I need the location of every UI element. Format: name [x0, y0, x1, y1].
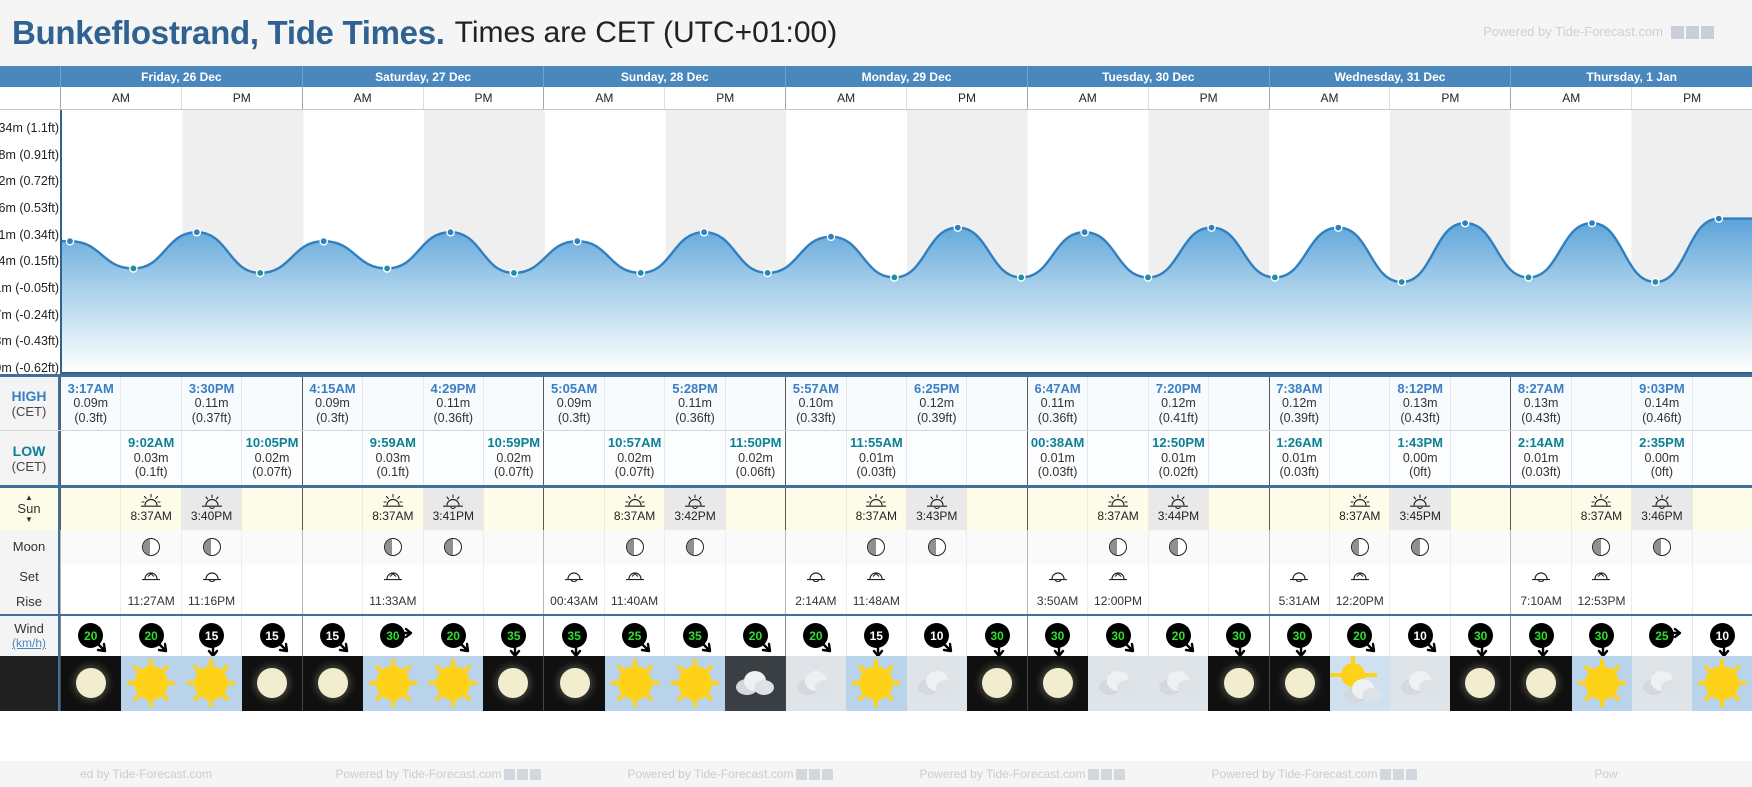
low-tide-height-m: 0.03m	[376, 451, 411, 466]
weather-cell-4-2[interactable]	[1148, 656, 1208, 711]
high-tide-height-m: 0.13m	[1403, 396, 1438, 411]
cloud-icon	[1399, 671, 1441, 695]
weather-cell-2-1[interactable]	[605, 656, 665, 711]
sun-cell-5-1[interactable]: 8:37AM	[1329, 488, 1389, 530]
sunset-icon	[1651, 494, 1673, 509]
ampm-cell-3-am: AM	[786, 87, 906, 109]
moon-cell-4-2[interactable]	[1148, 530, 1208, 564]
weather-cell-4-3[interactable]	[1208, 656, 1268, 711]
high-tide-cell-0-2[interactable]: 3:30PM0.11m(0.37ft)	[181, 377, 241, 430]
timezone-note: Times are CET (UTC+01:00)	[455, 16, 838, 50]
brand-block-icon	[1088, 769, 1099, 780]
weather-cell-1-3[interactable]	[483, 656, 543, 711]
sun-cell-2-2[interactable]: 3:42PM	[664, 488, 724, 530]
weather-day-4	[1027, 656, 1269, 711]
moon-rise-cell-0-1[interactable]: 11:27AM	[120, 589, 180, 614]
moon-rise-cell-1-2	[423, 589, 483, 614]
wind-cell-2-3[interactable]: 20	[725, 616, 785, 656]
sunrise-icon	[1349, 494, 1371, 509]
low-tide-time: 12:50PM	[1152, 435, 1205, 450]
moon-cell-2-3	[725, 530, 785, 564]
low-tide-cell-0-3[interactable]: 10:05PM0.02m(0.07ft)	[241, 431, 301, 484]
low-tide-day-2: 10:57AM0.02m(0.07ft)11:50PM0.02m(0.06ft)	[543, 431, 785, 484]
wind-unit-text[interactable]: (km/h)	[12, 636, 46, 650]
high-tide-height-ft: (0.36ft)	[675, 411, 715, 426]
wind-badge-holder: 20	[441, 623, 466, 648]
brand-block-icon	[809, 769, 820, 780]
sunrise-time: 8:37AM	[130, 509, 171, 523]
wind-cell-5-1[interactable]: 20	[1329, 616, 1389, 656]
moon-phase-icon	[142, 538, 160, 556]
wind-cell-1-0[interactable]: 15	[303, 616, 362, 656]
high-tide-cell-4-2[interactable]: 7:20PM0.12m(0.41ft)	[1148, 377, 1208, 430]
weather-cell-3-2[interactable]	[907, 656, 967, 711]
weather-cell-5-1[interactable]	[1330, 656, 1390, 711]
moon-time: 12:00PM	[1094, 594, 1142, 608]
moon-set-label-text: Set	[19, 569, 39, 584]
moon-cell-1-2[interactable]	[423, 530, 483, 564]
moon-set-day-2	[543, 564, 785, 589]
high-tide-cell-0-0[interactable]: 3:17AM0.09m(0.3ft)	[61, 377, 120, 430]
wind-cell-4-2[interactable]: 20	[1148, 616, 1208, 656]
high-tide-day-2: 5:05AM0.09m(0.3ft)5:28PM0.11m(0.36ft)	[543, 377, 785, 430]
moon-set-icon-cell-3-0	[786, 564, 845, 589]
sun-cell-1-1[interactable]: 8:37AM	[362, 488, 422, 530]
high-tide-day-6: 8:27AM0.13m(0.43ft)9:03PM0.14m(0.46ft)	[1510, 377, 1752, 430]
low-tide-height-m: 0.02m	[255, 451, 290, 466]
low-tide-day-4: 00:38AM0.01m(0.03ft)12:50PM0.01m(0.02ft)	[1027, 431, 1269, 484]
day-header-5[interactable]: Wednesday, 31 Dec	[1269, 66, 1511, 87]
wind-cell-0-1[interactable]: 20	[120, 616, 180, 656]
moon-rise-cell-6-0[interactable]: 7:10AM	[1511, 589, 1570, 614]
high-tide-time: 5:05AM	[551, 381, 597, 396]
moon-set-day-4	[1027, 564, 1269, 589]
high-tide-cell-2-0[interactable]: 5:05AM0.09m(0.3ft)	[544, 377, 603, 430]
high-tide-cell-1-0[interactable]: 4:15AM0.09m(0.3ft)	[303, 377, 362, 430]
wind-cell-5-3[interactable]: 30	[1450, 616, 1510, 656]
clear-night-icon	[1208, 656, 1268, 711]
moon-cell-1-1[interactable]	[362, 530, 422, 564]
low-tide-height-ft: (0.07ft)	[494, 465, 534, 480]
low-tide-cell-2-3[interactable]: 11:50PM0.02m(0.06ft)	[725, 431, 785, 484]
cloud-icon	[1641, 671, 1683, 695]
moon-rise-cell-6-3	[1692, 589, 1752, 614]
sun-cell-5-2[interactable]: 3:45PM	[1389, 488, 1449, 530]
high-tide-cell-0-1	[120, 377, 180, 430]
low-tide-unit-text: (CET)	[12, 459, 47, 474]
sun-cell-4-0	[1028, 488, 1087, 530]
wind-day-1: 15302035	[302, 616, 544, 656]
sun-cell-1-2[interactable]: 3:41PM	[423, 488, 483, 530]
sun-cell-6-1[interactable]: 8:37AM	[1571, 488, 1631, 530]
low-tide-cell-1-1[interactable]: 9:59AM0.03m(0.1ft)	[362, 431, 422, 484]
wind-cell-0-3[interactable]: 15	[241, 616, 301, 656]
wind-cell-3-0[interactable]: 20	[786, 616, 845, 656]
moon-day-1	[302, 530, 544, 564]
wind-direction-sw-icon	[1121, 639, 1137, 655]
powered-by-top-blocks	[1669, 24, 1714, 39]
moon-rise-cell-1-1[interactable]: 11:33AM	[362, 589, 422, 614]
sun-cell-3-2[interactable]: 3:43PM	[906, 488, 966, 530]
wind-cell-6-2[interactable]: 25	[1631, 616, 1691, 656]
sun-cell-4-1[interactable]: 8:37AM	[1087, 488, 1147, 530]
sunrise-icon	[865, 494, 887, 509]
weather-cell-4-1[interactable]	[1088, 656, 1148, 711]
high-tide-cell-2-2[interactable]: 5:28PM0.11m(0.36ft)	[664, 377, 724, 430]
weather-cell-1-1[interactable]	[363, 656, 423, 711]
low-tide-cell-6-2[interactable]: 2:35PM0.00m(0ft)	[1631, 431, 1691, 484]
high-tide-height-ft: (0.3ft)	[558, 411, 591, 426]
low-tide-cell-3-1[interactable]: 11:55AM0.01m(0.03ft)	[846, 431, 906, 484]
low-tide-cell-0-2	[181, 431, 241, 484]
low-tide-day-5: 1:26AM0.01m(0.03ft)1:43PM0.00m(0ft)	[1269, 431, 1511, 484]
sunset-time: 3:40PM	[191, 509, 232, 523]
ampm-cell-6-am: AM	[1511, 87, 1631, 109]
moon-phase-icon	[626, 538, 644, 556]
wind-label: Wind (km/h)	[0, 616, 60, 656]
wind-cell-0-0[interactable]: 20	[61, 616, 120, 656]
low-tide-cell-2-1[interactable]: 10:57AM0.02m(0.07ft)	[604, 431, 664, 484]
high-tide-height-ft: (0.39ft)	[1280, 411, 1320, 426]
high-tide-height-m: 0.12m	[919, 396, 954, 411]
wind-cell-0-2[interactable]: 15	[181, 616, 241, 656]
wind-day-2: 35253520	[543, 616, 785, 656]
sunny-icon	[181, 656, 241, 711]
high-tide-cell-6-2[interactable]: 9:03PM0.14m(0.46ft)	[1631, 377, 1691, 430]
low-tide-cell-6-0[interactable]: 2:14AM0.01m(0.03ft)	[1511, 431, 1570, 484]
sun-cell-4-2[interactable]: 3:44PM	[1148, 488, 1208, 530]
moon-rise-day-4: 3:50AM12:00PM	[1027, 589, 1269, 614]
weather-cell-2-2[interactable]	[665, 656, 725, 711]
weather-cell-0-0[interactable]	[61, 656, 121, 711]
moon-cell-0-1[interactable]	[120, 530, 180, 564]
sun-cell-0-1[interactable]: 8:37AM	[120, 488, 180, 530]
moon-rise-cell-0-2[interactable]: 11:16PM	[181, 589, 241, 614]
sun-cell-0-2[interactable]: 3:40PM	[181, 488, 241, 530]
moon-time: 11:40AM	[611, 594, 658, 608]
moon-rise-label-text: Rise	[16, 594, 42, 609]
wind-badge-holder: 20	[803, 623, 828, 648]
moon-shadow	[867, 538, 875, 556]
moon-rise-cell-3-1[interactable]: 11:48AM	[846, 589, 906, 614]
sun-icon	[194, 666, 228, 700]
moon-set-icon-cell-2-3	[725, 564, 785, 589]
wind-cell-1-2[interactable]: 20	[423, 616, 483, 656]
high-tide-height-m: 0.11m	[195, 396, 229, 411]
sunrise-time: 8:37AM	[1097, 509, 1138, 523]
wind-direction-e-icon	[398, 625, 414, 641]
moon-cell-2-2[interactable]	[664, 530, 724, 564]
moon-phase-icon	[1592, 538, 1610, 556]
weather-cell-0-1[interactable]	[121, 656, 181, 711]
moon-set-row: Set	[0, 564, 1752, 589]
low-tide-height-ft: (0.02ft)	[1159, 465, 1199, 480]
high-tide-time: 3:17AM	[68, 381, 114, 396]
ampm-header-row: AMPMAMPMAMPMAMPMAMPMAMPMAMPM	[0, 87, 1752, 110]
moon-cell-0-0	[61, 530, 120, 564]
wind-cell-6-3[interactable]: 10	[1692, 616, 1752, 656]
wind-cell-2-0[interactable]: 35	[544, 616, 603, 656]
moon-rise-cell-6-1[interactable]: 12:53PM	[1571, 589, 1631, 614]
tide-chart-plot[interactable]	[60, 110, 1752, 374]
wind-cell-1-3[interactable]: 35	[483, 616, 543, 656]
moon-rise-cell-1-0	[303, 589, 362, 614]
high-tide-cell-3-3	[966, 377, 1026, 430]
moonrise-arc-icon	[1108, 570, 1128, 582]
wind-cell-3-2[interactable]: 10	[906, 616, 966, 656]
weather-cell-6-3[interactable]	[1692, 656, 1752, 711]
weather-cell-5-2[interactable]	[1390, 656, 1450, 711]
wind-cell-2-2[interactable]: 35	[664, 616, 724, 656]
brand-block-icon	[1380, 769, 1391, 780]
low-tide-height-m: 0.01m	[1282, 451, 1317, 466]
sun-down-arrow-icon: ▼	[25, 516, 33, 523]
powered-by-top-text: Powered by Tide-Forecast.com	[1483, 24, 1663, 39]
sunny-icon	[121, 656, 181, 711]
moon-time: 3:50AM	[1037, 594, 1078, 608]
moon-set-icon-cell-6-2	[1631, 564, 1691, 589]
high-tide-cell-3-0[interactable]: 5:57AM0.10m(0.33ft)	[786, 377, 845, 430]
weather-cell-5-0[interactable]	[1270, 656, 1330, 711]
day-header-4[interactable]: Tuesday, 30 Dec	[1027, 66, 1269, 87]
low-tide-cell-3-3	[966, 431, 1026, 484]
moon-set-icon-cell-0-1	[120, 564, 180, 589]
high-tide-cell-4-0[interactable]: 6:47AM0.11m(0.36ft)	[1028, 377, 1087, 430]
sun-day-1: 8:37AM3:41PM	[302, 488, 544, 530]
moon-cell-2-1[interactable]	[604, 530, 664, 564]
moon-set-icon-cell-2-1	[604, 564, 664, 589]
high-tide-time: 3:30PM	[189, 381, 235, 396]
wind-cell-6-0[interactable]: 30	[1511, 616, 1570, 656]
weather-cell-2-3[interactable]	[725, 656, 785, 711]
low-tide-label-text: LOW	[13, 443, 46, 459]
day-header-1[interactable]: Saturday, 27 Dec	[302, 66, 544, 87]
moon-rise-cell-4-2	[1148, 589, 1208, 614]
wind-cell-4-0[interactable]: 30	[1028, 616, 1087, 656]
sun-cell-6-2[interactable]: 3:46PM	[1631, 488, 1691, 530]
sunrise-time: 8:37AM	[1581, 509, 1622, 523]
low-tide-height-ft: (0.1ft)	[377, 465, 410, 480]
low-tide-cell-5-2[interactable]: 1:43PM0.00m(0ft)	[1389, 431, 1449, 484]
sun-cell-2-1[interactable]: 8:37AM	[604, 488, 664, 530]
weather-cell-3-1[interactable]	[846, 656, 906, 711]
moon-cell-6-0	[1511, 530, 1570, 564]
wind-badge-holder: 25	[1649, 623, 1674, 648]
moon-cell-6-3	[1692, 530, 1752, 564]
day-header-0[interactable]: Friday, 26 Dec	[60, 66, 302, 87]
high-tide-height-m: 0.11m	[1041, 396, 1075, 411]
weather-cell-0-3[interactable]	[242, 656, 302, 711]
moon-cell-5-1[interactable]	[1329, 530, 1389, 564]
high-tide-day-0: 3:17AM0.09m(0.3ft)3:30PM0.11m(0.37ft)	[60, 377, 302, 430]
moonset-arc-icon	[202, 570, 222, 582]
moon-rise-cell-2-1[interactable]: 11:40AM	[604, 589, 664, 614]
tide-extrema-markers	[62, 110, 1752, 372]
wind-cell-6-1[interactable]: 30	[1571, 616, 1631, 656]
moon-cell-3-1[interactable]	[846, 530, 906, 564]
wind-badge-holder: 15	[260, 623, 285, 648]
wind-cell-3-3[interactable]: 30	[966, 616, 1026, 656]
brand-block-icon	[1686, 26, 1699, 39]
wind-direction-sw-icon	[939, 639, 955, 655]
wind-badge-holder: 10	[1710, 623, 1735, 648]
high-tide-height-ft: (0.43ft)	[1400, 411, 1440, 426]
moon-set-icon-cell-6-1	[1571, 564, 1631, 589]
tide-forecast-page: Bunkeflostrand, Tide Times. Times are CE…	[0, 0, 1752, 787]
wind-cell-3-1[interactable]: 15	[846, 616, 906, 656]
moon-rise-cell-3-0[interactable]: 2:14AM	[786, 589, 845, 614]
footer-credit-3: Powered by Tide-Forecast.com	[876, 767, 1168, 781]
day-header-3[interactable]: Monday, 29 Dec	[785, 66, 1027, 87]
weather-cell-1-2[interactable]	[423, 656, 483, 711]
moon-phase-icon	[1169, 538, 1187, 556]
moon-cell-5-2[interactable]	[1389, 530, 1449, 564]
day-header-6[interactable]: Thursday, 1 Jan	[1510, 66, 1752, 87]
low-tide-time: 1:26AM	[1276, 435, 1322, 450]
sun-cell-5-0	[1270, 488, 1329, 530]
moon-cell-3-2[interactable]	[906, 530, 966, 564]
moon-time: 11:33AM	[369, 594, 416, 608]
wind-cell-5-2[interactable]: 10	[1389, 616, 1449, 656]
sun-cell-6-0	[1511, 488, 1570, 530]
wind-direction-sw-icon	[154, 639, 170, 655]
moon-cell-4-1[interactable]	[1087, 530, 1147, 564]
wind-badge-holder: 30	[1468, 623, 1493, 648]
wind-cell-4-1[interactable]: 30	[1087, 616, 1147, 656]
weather-cell-4-0[interactable]	[1028, 656, 1088, 711]
sun-icon	[376, 666, 410, 700]
moon-icon	[1043, 668, 1073, 698]
weather-cell-3-0[interactable]	[786, 656, 846, 711]
low-tide-height-m: 0.00m	[1403, 451, 1438, 466]
weather-cell-3-3[interactable]	[967, 656, 1027, 711]
cloudy-icon	[1632, 656, 1692, 711]
low-tide-cell-4-0[interactable]: 00:38AM0.01m(0.03ft)	[1028, 431, 1087, 484]
ampm-cell-1-am: AM	[303, 87, 423, 109]
sun-icon	[1585, 666, 1619, 700]
moon-icon	[1224, 668, 1254, 698]
moonset-arc-icon	[1048, 570, 1068, 582]
moon-set-icon-cell-5-1	[1329, 564, 1389, 589]
weather-cell-2-0[interactable]	[544, 656, 604, 711]
wind-direction-sw-icon	[456, 639, 472, 655]
moon-set-label: Set	[0, 564, 60, 589]
sun-cell-3-1[interactable]: 8:37AM	[846, 488, 906, 530]
moon-phase-icon	[444, 538, 462, 556]
moon-icon	[498, 668, 528, 698]
day-header-2[interactable]: Sunday, 28 Dec	[543, 66, 785, 87]
weather-cell-0-2[interactable]	[181, 656, 241, 711]
cloudy-icon	[1390, 656, 1450, 711]
high-tide-day-4: 6:47AM0.11m(0.36ft)7:20PM0.12m(0.41ft)	[1027, 377, 1269, 430]
moon-cell-1-3	[483, 530, 543, 564]
moon-rise-cell-5-0[interactable]: 5:31AM	[1270, 589, 1329, 614]
high-tide-cell-5-2[interactable]: 8:12PM0.13m(0.43ft)	[1389, 377, 1449, 430]
wind-cell-1-1[interactable]: 30	[362, 616, 422, 656]
sun-icon	[134, 666, 168, 700]
page-footer: ed by Tide-Forecast.comPowered by Tide-F…	[0, 761, 1752, 787]
wind-badge-holder: 25	[622, 623, 647, 648]
wind-cell-2-1[interactable]: 25	[604, 616, 664, 656]
moon-rise-cell-4-1[interactable]: 12:00PM	[1087, 589, 1147, 614]
moon-rise-cell-0-0	[61, 589, 120, 614]
weather-cell-5-3[interactable]	[1450, 656, 1510, 711]
low-tide-height-m: 0.01m	[1161, 451, 1196, 466]
high-tide-cell-6-0[interactable]: 8:27AM0.13m(0.43ft)	[1511, 377, 1570, 430]
moon-rise-cell-5-1[interactable]: 12:20PM	[1329, 589, 1389, 614]
high-tide-height-ft: (0.36ft)	[1038, 411, 1078, 426]
high-tide-cell-2-3	[725, 377, 785, 430]
low-tide-cell-0-1[interactable]: 9:02AM0.03m(0.1ft)	[120, 431, 180, 484]
moon-cell-6-1[interactable]	[1571, 530, 1631, 564]
brand-block-icon	[796, 769, 807, 780]
moon-rise-cell-4-3	[1208, 589, 1268, 614]
sunset-time: 3:41PM	[433, 509, 474, 523]
moon-set-icon-cell-1-0	[303, 564, 362, 589]
low-tide-height-m: 0.00m	[1645, 451, 1680, 466]
high-tide-cell-1-2[interactable]: 4:29PM0.11m(0.36ft)	[423, 377, 483, 430]
moon-shadow	[686, 538, 694, 556]
brand-block-icon	[1671, 26, 1684, 39]
clear-night-icon	[1270, 656, 1330, 711]
sunrise-time: 8:37AM	[856, 509, 897, 523]
moon-icon	[1526, 668, 1556, 698]
weather-day-0	[60, 656, 302, 711]
wind-cell-4-3[interactable]: 30	[1208, 616, 1268, 656]
moon-shadow	[1653, 538, 1661, 556]
high-tide-time: 9:03PM	[1639, 381, 1685, 396]
footer-credit-5: Pow	[1460, 767, 1752, 781]
low-tide-cell-1-0	[303, 431, 362, 484]
ampm-cell-6-pm: PM	[1631, 87, 1752, 109]
cloudy-icon	[1088, 656, 1148, 711]
high-tide-time: 6:25PM	[914, 381, 960, 396]
low-tide-cell-0-0	[61, 431, 120, 484]
ampm-cell-5-pm: PM	[1389, 87, 1510, 109]
moon-set-day-1	[302, 564, 544, 589]
low-tide-cell-6-3	[1692, 431, 1752, 484]
high-tide-cell-5-0[interactable]: 7:38AM0.12m(0.39ft)	[1270, 377, 1329, 430]
high-tide-cell-3-2[interactable]: 6:25PM0.12m(0.39ft)	[906, 377, 966, 430]
sunset-icon	[1167, 494, 1189, 509]
high-tide-height-m: 0.10m	[799, 396, 834, 411]
low-tide-height-ft: (0.03ft)	[1280, 465, 1320, 480]
moon-day-4	[1027, 530, 1269, 564]
low-tide-cell-4-2[interactable]: 12:50PM0.01m(0.02ft)	[1148, 431, 1208, 484]
low-tide-row: LOW (CET) 9:02AM0.03m(0.1ft)10:05PM0.02m…	[0, 430, 1752, 487]
weather-cell-6-0[interactable]	[1511, 656, 1571, 711]
moon-phase-icon	[1411, 538, 1429, 556]
low-tide-height-m: 0.01m	[1524, 451, 1559, 466]
weather-cell-1-0[interactable]	[303, 656, 363, 711]
weather-cell-6-2[interactable]	[1632, 656, 1692, 711]
weather-cell-6-1[interactable]	[1572, 656, 1632, 711]
wind-cell-5-0[interactable]: 30	[1270, 616, 1329, 656]
moon-set-icon-cell-4-0	[1028, 564, 1087, 589]
high-tide-cell-4-3	[1208, 377, 1268, 430]
low-tide-cell-5-0[interactable]: 1:26AM0.01m(0.03ft)	[1270, 431, 1329, 484]
moon-rise-cell-4-0[interactable]: 3:50AM	[1028, 589, 1087, 614]
wind-badge-holder: 35	[562, 623, 587, 648]
y-axis-tick-7: -0.07m (-0.24ft)	[0, 308, 59, 322]
moon-rise-cell-2-0[interactable]: 00:43AM	[544, 589, 603, 614]
moon-cell-0-2[interactable]	[181, 530, 241, 564]
moon-cell-6-2[interactable]	[1631, 530, 1691, 564]
low-tide-cell-5-1	[1329, 431, 1389, 484]
y-axis-tick-5: 0.04m (0.15ft)	[0, 254, 59, 268]
sunset-icon	[201, 494, 223, 509]
low-tide-cell-1-3[interactable]: 10:59PM0.02m(0.07ft)	[483, 431, 543, 484]
